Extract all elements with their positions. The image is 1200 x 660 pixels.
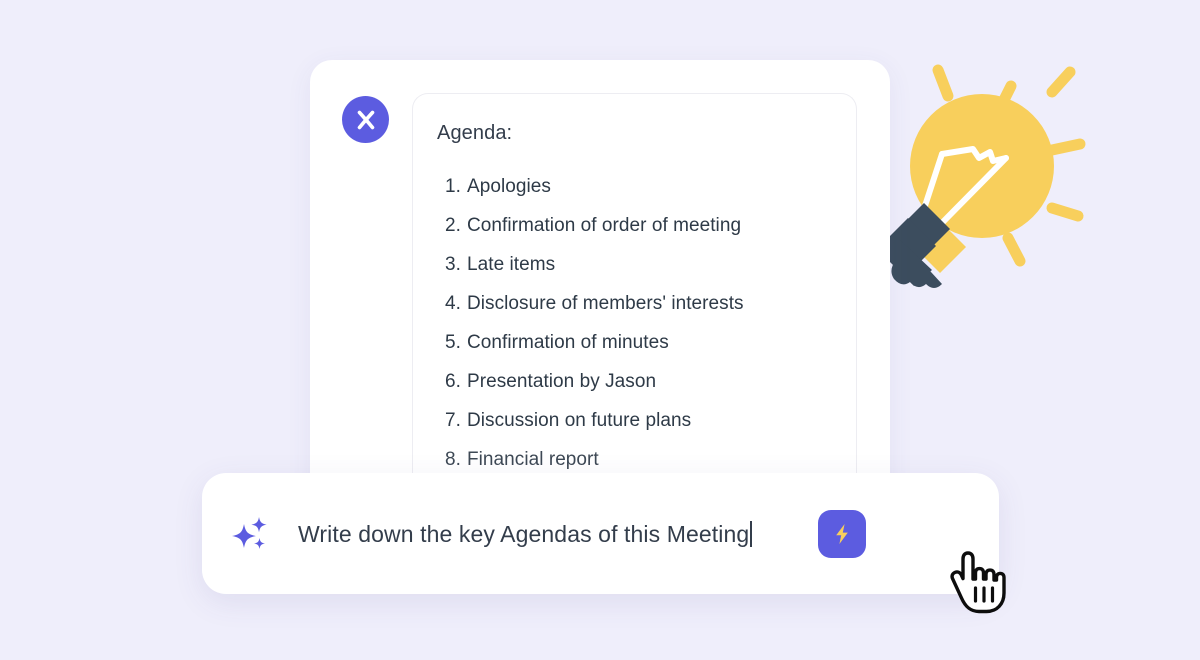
list-item: Disclosure of members' interests bbox=[437, 292, 856, 315]
prompt-input-value: Write down the key Agendas of this Meeti… bbox=[298, 521, 749, 547]
list-item: Presentation by Jason bbox=[437, 370, 856, 393]
lightbulb-glass bbox=[910, 94, 1054, 238]
agenda-title: Agenda: bbox=[437, 120, 856, 146]
list-item: Financial report bbox=[437, 448, 856, 471]
lightning-bolt-icon bbox=[830, 522, 854, 546]
sparkles-icon bbox=[226, 509, 276, 559]
lightbulb-icon bbox=[880, 48, 1090, 313]
x-sparkle-icon bbox=[352, 106, 380, 134]
avatar bbox=[342, 96, 389, 143]
send-button[interactable] bbox=[818, 510, 866, 558]
list-item: Late items bbox=[437, 253, 856, 276]
list-item: Discussion on future plans bbox=[437, 409, 856, 432]
agenda-panel: Agenda: Apologies Confirmation of order … bbox=[412, 93, 857, 513]
prompt-input[interactable]: Write down the key Agendas of this Meeti… bbox=[298, 513, 818, 555]
lightbulb-illustration bbox=[880, 48, 1090, 313]
list-item: Confirmation of order of meeting bbox=[437, 214, 856, 237]
lightbulb-neck bbox=[901, 208, 966, 273]
assistant-response-card: Agenda: Apologies Confirmation of order … bbox=[310, 60, 890, 540]
prompt-input-bar[interactable]: Write down the key Agendas of this Meeti… bbox=[202, 473, 999, 594]
screen-root: Agenda: Apologies Confirmation of order … bbox=[0, 0, 1200, 660]
lightbulb-rays bbox=[938, 70, 1080, 261]
text-caret bbox=[750, 521, 752, 547]
lightbulb-base bbox=[882, 203, 950, 288]
lightbulb-filament bbox=[920, 149, 1006, 230]
list-item: Confirmation of minutes bbox=[437, 331, 856, 354]
list-item: Apologies bbox=[437, 175, 856, 198]
agenda-list: Apologies Confirmation of order of meeti… bbox=[437, 175, 856, 471]
